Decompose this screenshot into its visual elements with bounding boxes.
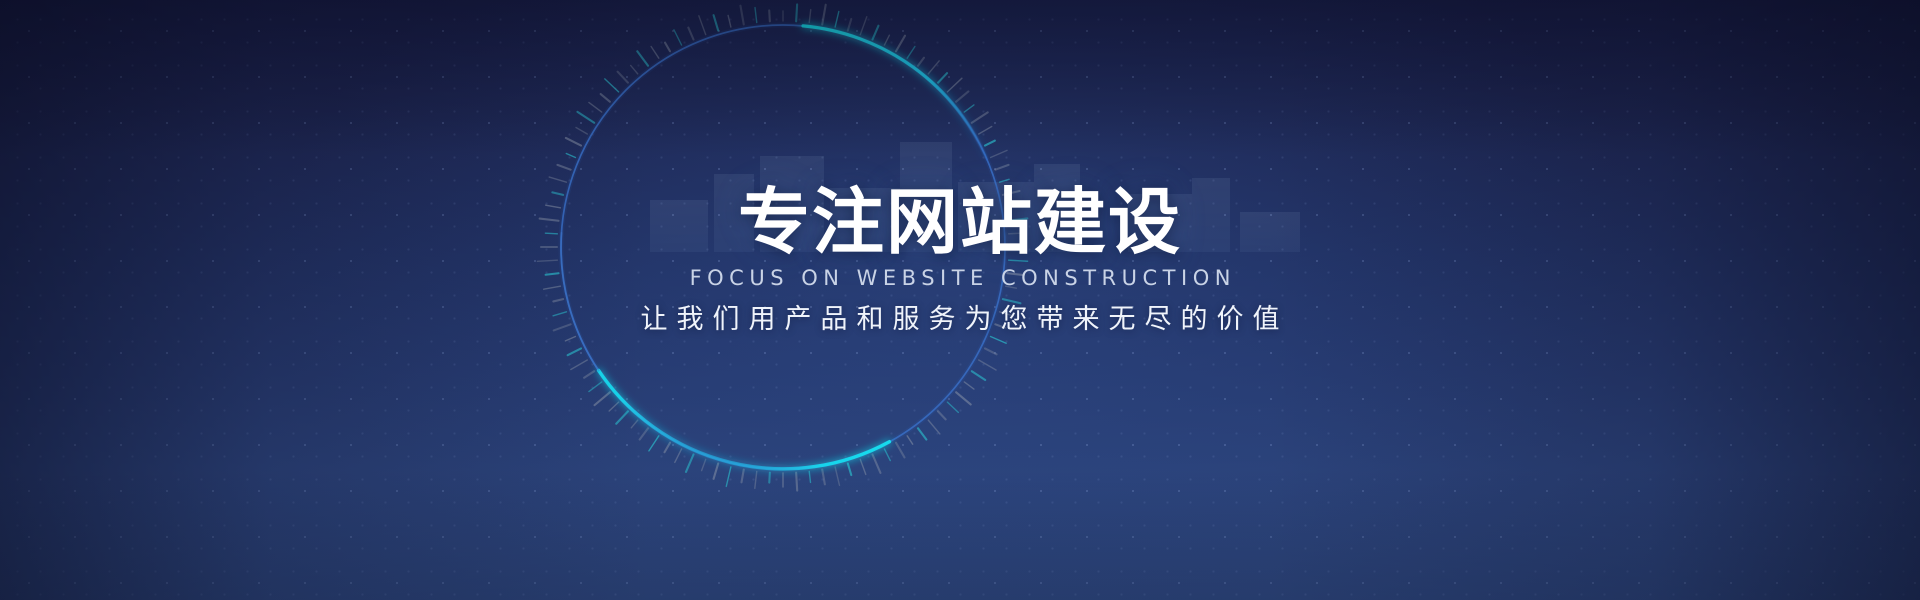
dot-grid-pattern bbox=[0, 0, 1920, 600]
page-title: 专注网站建设 bbox=[0, 186, 1920, 258]
horizontal-vignette bbox=[0, 0, 1920, 600]
ring-accent-arc-bottom bbox=[599, 370, 890, 468]
ring-accent-arc-top bbox=[803, 26, 987, 159]
hero-banner: 专注网站建设 FOCUS ON WEBSITE CONSTRUCTION 让我们… bbox=[0, 0, 1920, 600]
center-glow bbox=[260, 0, 1660, 600]
tagline-chinese: 让我们用产品和服务为您带来无尽的价值 bbox=[0, 306, 1920, 333]
vertical-vignette bbox=[0, 0, 1920, 600]
subtitle-english: FOCUS ON WEBSITE CONSTRUCTION bbox=[0, 268, 1920, 289]
